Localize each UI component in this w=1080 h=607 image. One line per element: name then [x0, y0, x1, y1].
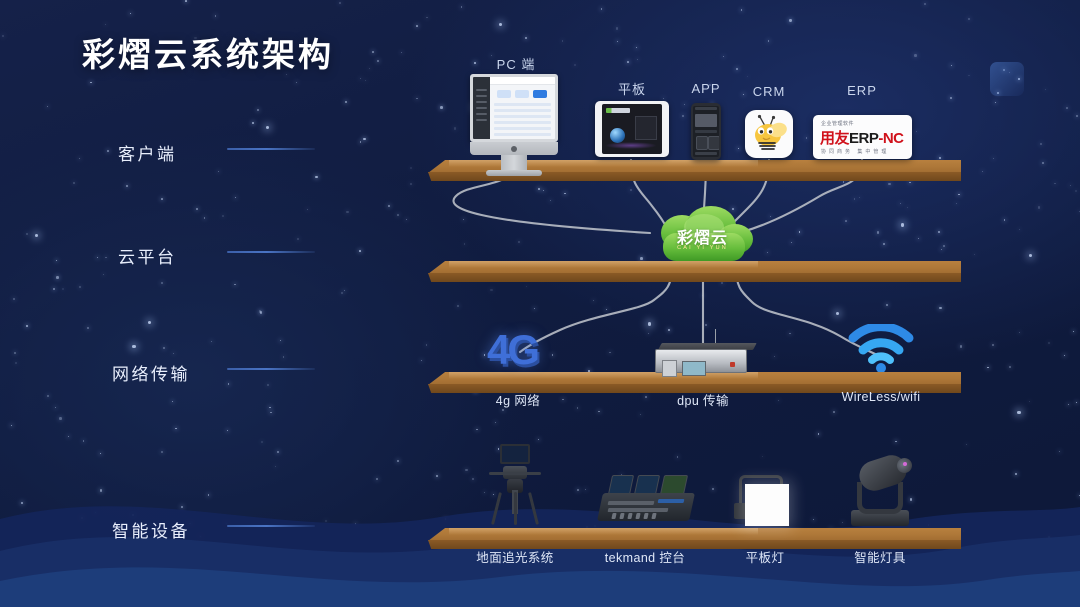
label-erp: ERP [847, 83, 877, 98]
label-pc: PC 端 [497, 54, 536, 73]
cloud-subtitle: CAI YI YUN [649, 245, 756, 251]
apple-logo-icon [511, 146, 517, 152]
label-panel-light: 平板灯 [746, 547, 785, 566]
imac-neck [501, 155, 527, 170]
erp-tagline-top: 企业管理软件 [821, 120, 854, 127]
device-erp[interactable]: 企业管理软件 用友ERP-NC 协同商务 集中管理 [813, 115, 912, 159]
slide-canvas: 彩熠云系统架构 客户端 云平台 网络传输 智能设备 PC 端 [0, 0, 1080, 607]
stage-rule-network [227, 368, 315, 370]
device-app-phone[interactable] [691, 103, 721, 160]
erp-tagline-bottom: 协同商务 集中管理 [821, 148, 889, 155]
stage-rule-clients [227, 148, 315, 150]
label-tablet: 平板 [618, 79, 646, 98]
label-follow-spot: 地面追光系统 [476, 547, 553, 566]
decorative-square [990, 62, 1024, 96]
bee-icon [745, 110, 793, 158]
imac-screen [470, 74, 558, 142]
device-pc[interactable] [470, 74, 560, 160]
stage-label-clients: 客户端 [118, 140, 177, 165]
device-follow-spot[interactable] [487, 444, 543, 526]
label-moving-head: 智能灯具 [854, 547, 906, 566]
wifi-icon[interactable] [848, 324, 914, 372]
stage-rule-devices [227, 525, 315, 527]
device-moving-head[interactable] [845, 452, 917, 528]
label-dpu: dpu 传输 [677, 390, 729, 409]
device-crm[interactable] [745, 110, 793, 158]
device-panel-light[interactable] [731, 470, 793, 528]
device-tablet[interactable] [595, 101, 669, 159]
stage-rule-cloud [227, 251, 315, 253]
erp-wordmark: 用友ERP-NC [820, 127, 904, 148]
device-dpu[interactable] [655, 343, 753, 375]
device-console[interactable] [600, 475, 692, 527]
4g-icon[interactable]: 4G [487, 327, 549, 373]
label-crm: CRM [753, 84, 786, 99]
stage-label-cloud: 云平台 [118, 243, 177, 268]
imac-foot [486, 170, 542, 176]
label-console: tekmand 控台 [605, 547, 685, 566]
label-wifi: WireLess/wifi [842, 390, 921, 404]
label-4g: 4g 网络 [496, 390, 540, 409]
stage-label-network: 网络传输 [112, 360, 190, 385]
label-app: APP [691, 81, 720, 96]
stage-label-devices: 智能设备 [112, 517, 190, 542]
cloud-platform-logo[interactable]: 彩熠云 CAI YI YUN [649, 205, 756, 267]
page-title: 彩熠云系统架构 [82, 28, 334, 76]
